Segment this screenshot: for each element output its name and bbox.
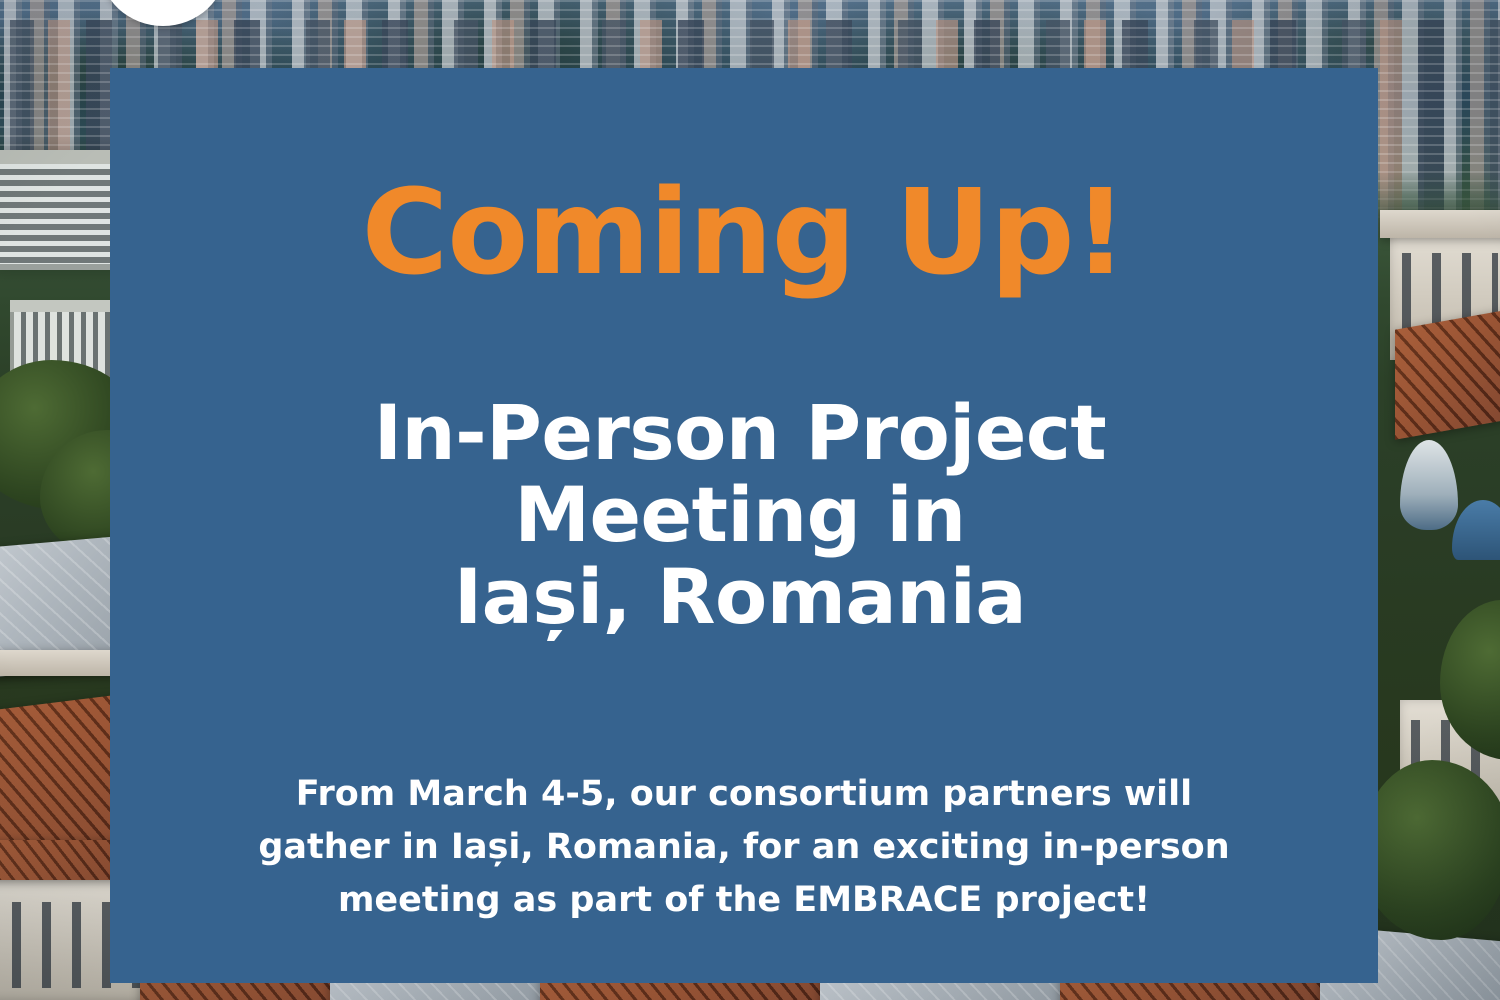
event-title-line-3: Iași, Romania <box>454 552 1026 641</box>
page-heading: Coming Up! <box>110 173 1378 291</box>
event-description: From March 4-5, our consortium partners … <box>245 768 1243 928</box>
event-title: In-Person Project Meeting in Iași, Roman… <box>344 392 1137 638</box>
event-title-line-2: Meeting in <box>514 470 965 559</box>
gradient-frame: In-Person Project Meeting in Iași, Roman… <box>195 320 1285 710</box>
gradient-frame-inner: In-Person Project Meeting in Iași, Roman… <box>199 324 1281 706</box>
event-title-line-1: In-Person Project <box>374 388 1107 477</box>
poster: Coming Up! In-Person Project Meeting in … <box>0 0 1500 1000</box>
content-panel: Coming Up! In-Person Project Meeting in … <box>110 68 1378 983</box>
